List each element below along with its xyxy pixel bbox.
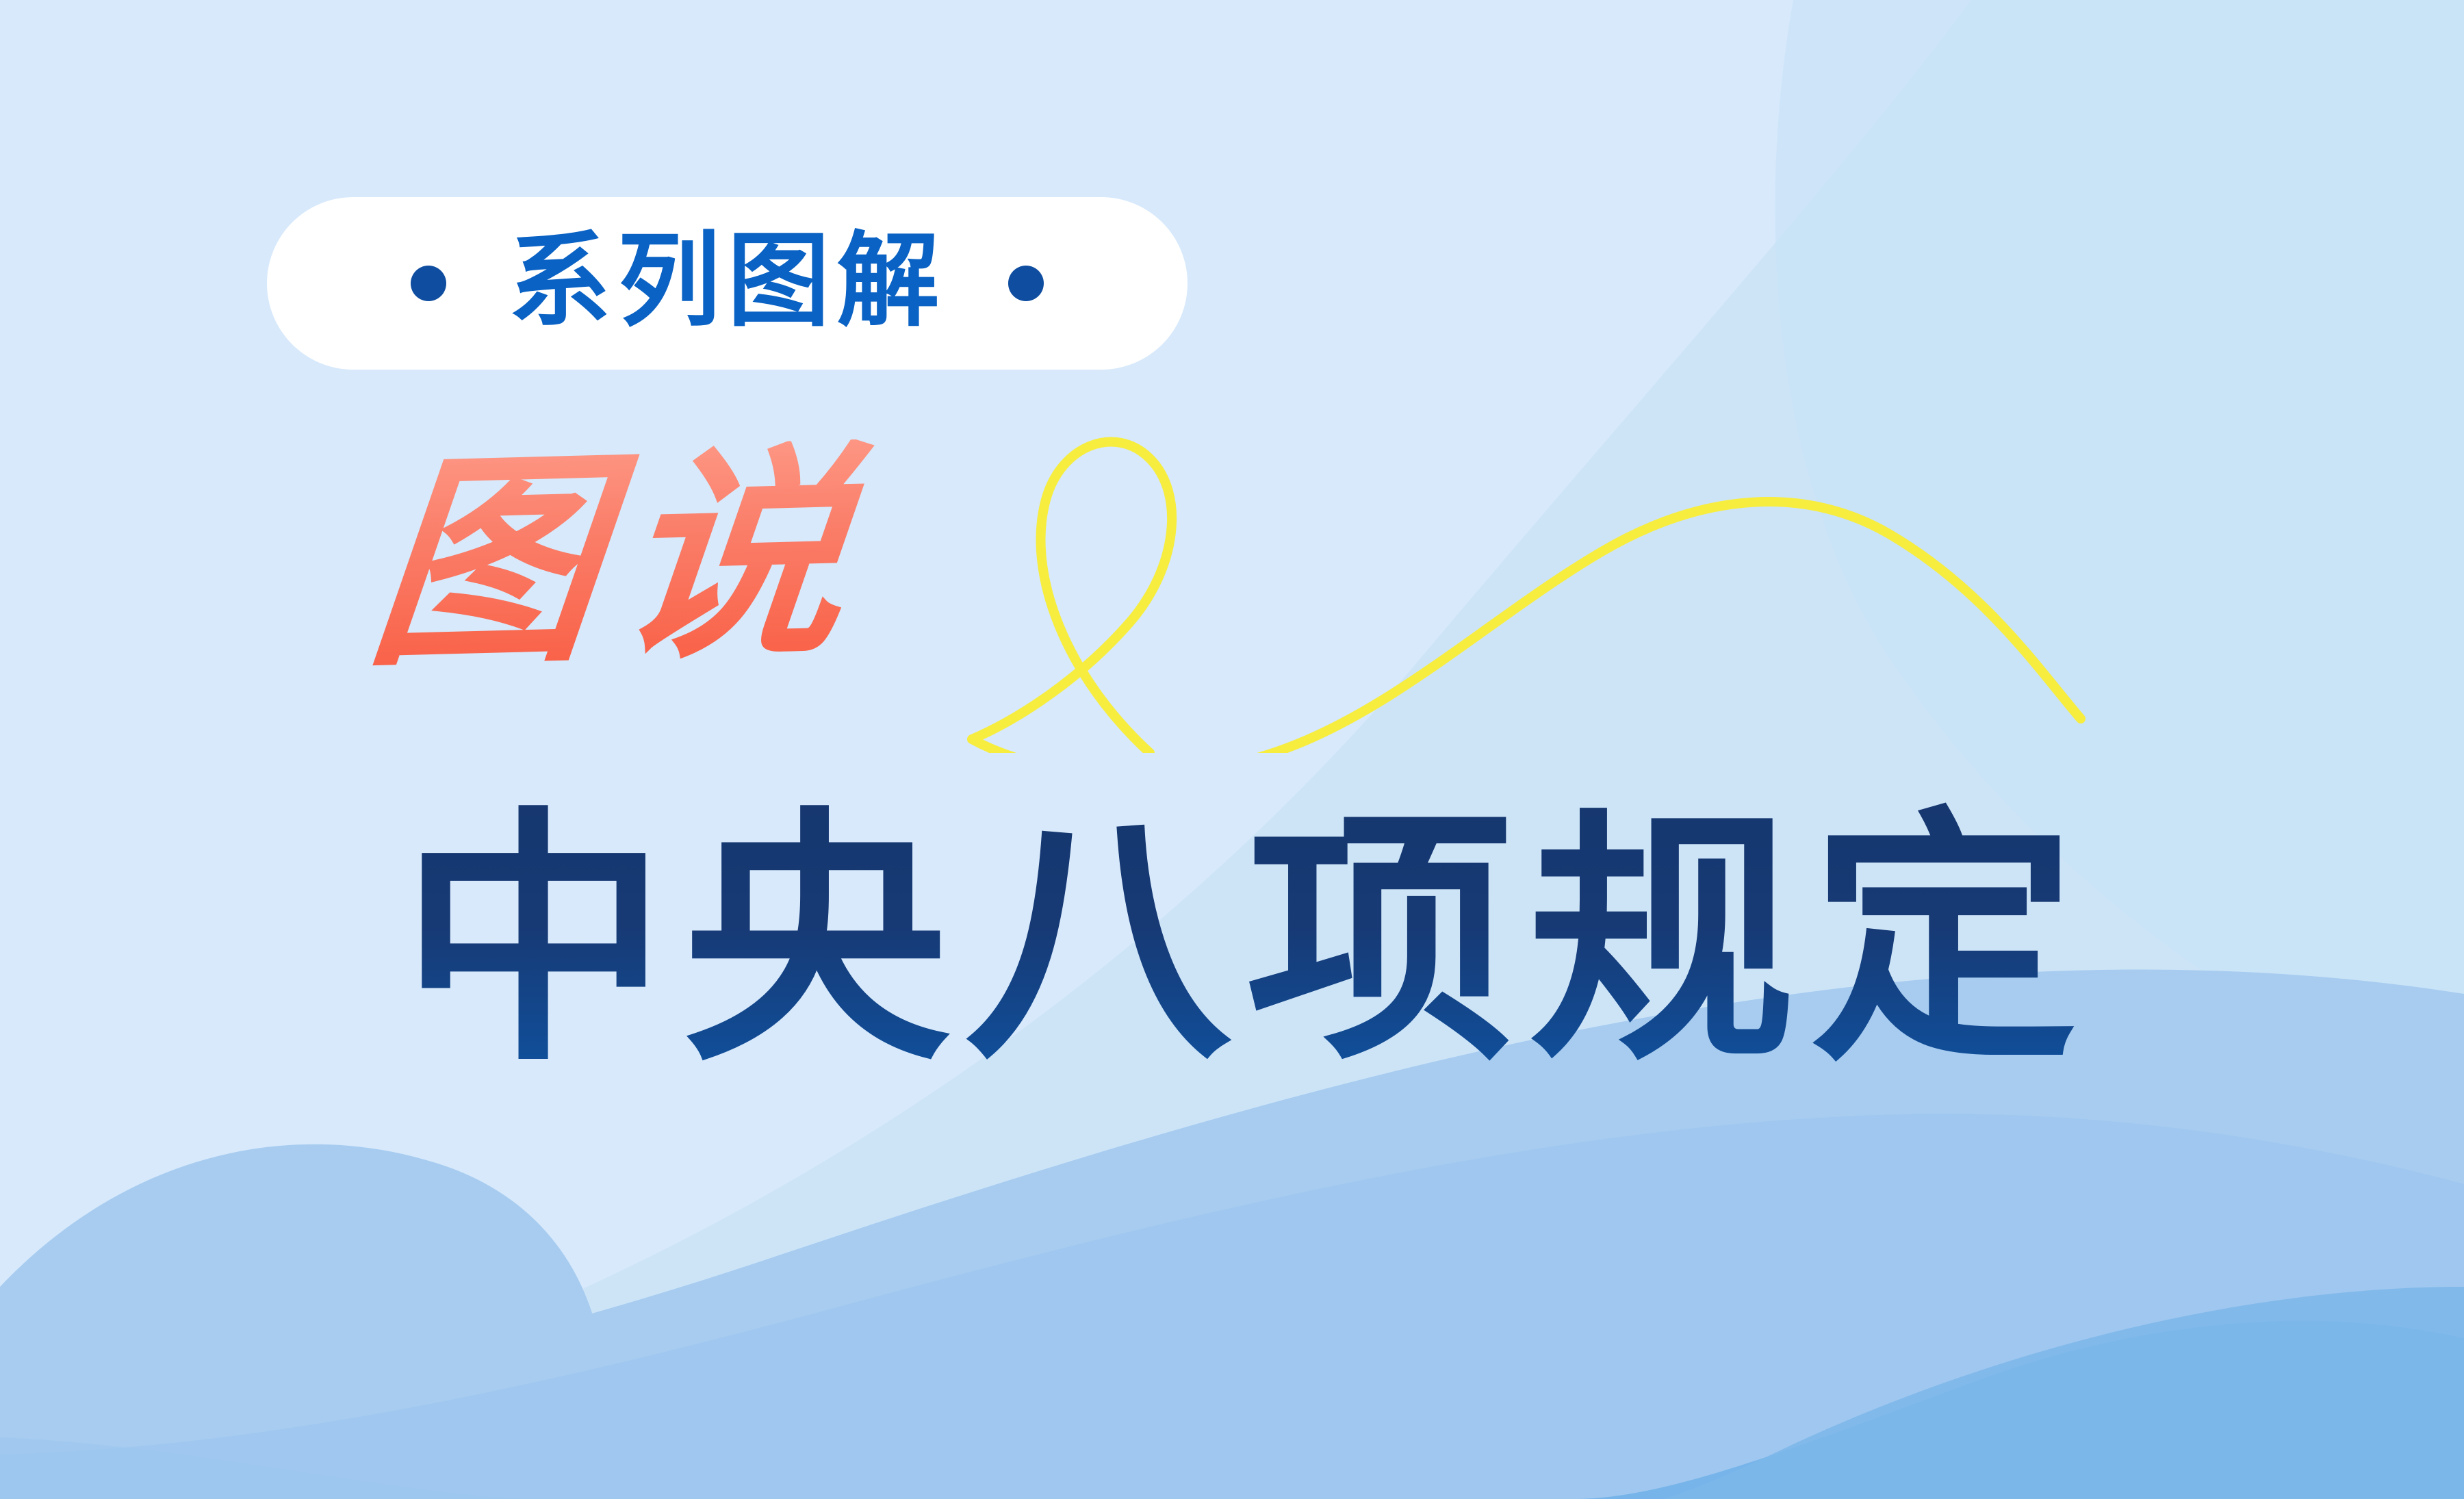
brush-calligraphy: 图说 <box>383 452 999 746</box>
badge-right-dot-icon <box>1008 266 1044 301</box>
badge-left-dot-icon <box>411 266 446 301</box>
main-title-text: 中央八项规定 <box>400 797 2146 1086</box>
brush-calligraphy-text: 图说 <box>361 435 1001 677</box>
series-badge: 系列图解 <box>267 197 1188 370</box>
badge-label: 系列图解 <box>508 229 946 332</box>
main-title: 中央八项规定 <box>400 797 2146 1099</box>
poster-canvas: 系列图解 图说 中央八项规定 <box>0 0 2464 1499</box>
